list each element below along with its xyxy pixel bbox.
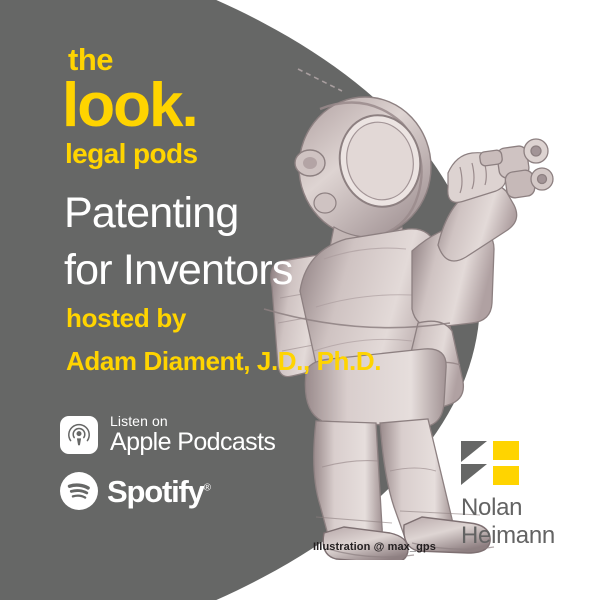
title-line-1: Patenting [64,185,404,242]
nolan-heimann-line-1: Nolan [461,494,581,522]
host-name: Adam Diament, J.D., Ph.D. [66,348,426,374]
nolan-heimann-logo: Nolan Heimann [461,441,581,551]
podcast-title: Patenting for Inventors [64,185,404,299]
host-credit: hosted by Adam Diament, J.D., Ph.D. [66,305,426,374]
brand-look-wordmark: look. [62,77,322,136]
spotify-wordmark: Spotify [107,474,204,509]
spotify-icon [60,472,98,510]
apple-listen-on-label: Listen on [110,414,275,428]
apple-podcasts-label: Apple Podcasts [110,430,275,455]
illustration-credit: Illustration @ max_gps [313,541,436,553]
apple-podcasts-icon [60,416,98,454]
apple-podcasts-badge[interactable]: Listen on Apple Podcasts [60,414,275,455]
spotify-registered-mark: ® [204,482,210,493]
nolan-heimann-line-2: Heimann [461,522,581,550]
brand-tagline: legal pods [65,140,322,168]
platform-badges: Listen on Apple Podcasts Spotify® [60,414,275,510]
brand-lockup: the look. legal pods [62,44,322,168]
title-line-2: for Inventors [64,242,404,299]
nolan-heimann-mark-icon [461,441,519,485]
apple-podcasts-text: Listen on Apple Podcasts [110,414,275,455]
podcast-cover-art: the look. legal pods Patenting for Inven… [0,0,600,600]
hosted-by-label: hosted by [66,305,426,331]
spotify-badge[interactable]: Spotify® [60,472,275,510]
spotify-label: Spotify® [107,476,210,507]
